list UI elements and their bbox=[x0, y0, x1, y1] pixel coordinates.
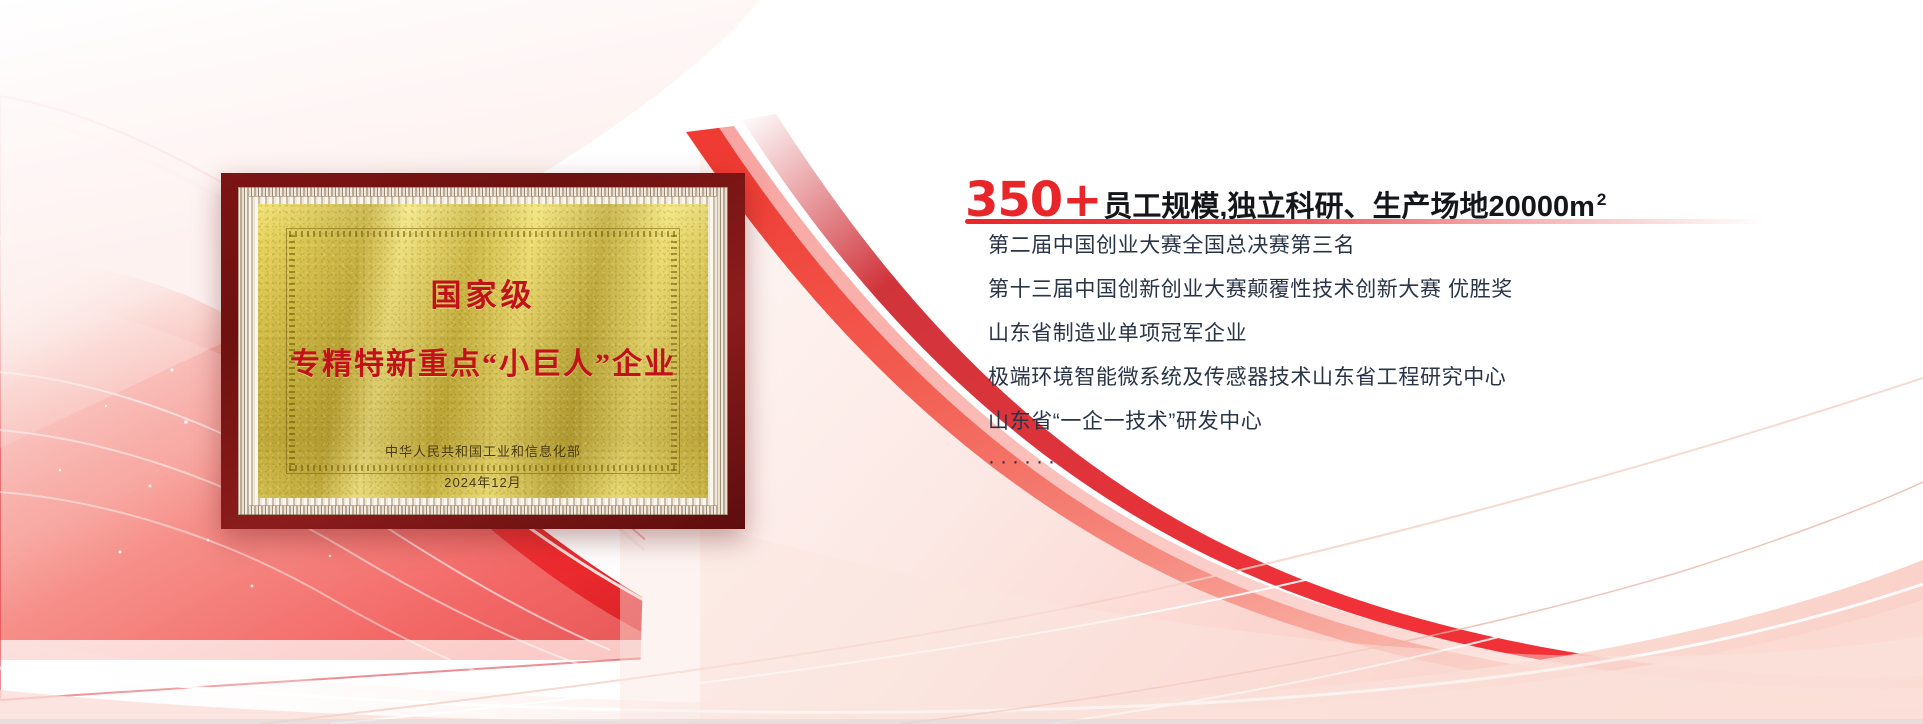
plaque-ornate-border-inner: 国家级 专精特新重点“小巨人”企业 中华人民共和国工业和信息化部 2024年12… bbox=[248, 196, 718, 506]
award-plaque: 国家级 专精特新重点“小巨人”企业 中华人民共和国工业和信息化部 2024年12… bbox=[221, 173, 745, 529]
list-item: 第十三届中国创新创业大赛颠覆性技术创新大赛 优胜奖 bbox=[988, 268, 1848, 312]
plaque-issuer: 中华人民共和国工业和信息化部 bbox=[385, 441, 581, 460]
list-item: 山东省制造业单项冠军企业 bbox=[988, 312, 1848, 356]
headline-superscript: 2 bbox=[1597, 191, 1606, 208]
plaque-title-line1: 国家级 bbox=[431, 270, 536, 315]
list-item: 极端环境智能微系统及传感器技术山东省工程研究中心 bbox=[988, 356, 1848, 400]
list-item: 第二届中国创业大赛全国总决赛第三名 bbox=[988, 224, 1848, 268]
plaque-outer-frame: 国家级 专精特新重点“小巨人”企业 中华人民共和国工业和信息化部 2024年12… bbox=[221, 173, 745, 529]
plaque-date: 2024年12月 bbox=[444, 472, 521, 491]
list-ellipsis: ······ bbox=[988, 444, 1848, 474]
plaque-gold-plate: 国家级 专精特新重点“小巨人”企业 中华人民共和国工业和信息化部 2024年12… bbox=[258, 204, 708, 498]
headline: 350+ 员工规模,独立科研、生产场地20000m 2 bbox=[965, 176, 1606, 224]
plaque-ornate-border-outer: 国家级 专精特新重点“小巨人”企业 中华人民共和国工业和信息化部 2024年12… bbox=[238, 187, 728, 515]
headline-text: 员工规模,独立科研、生产场地20000m bbox=[1103, 193, 1595, 222]
plaque-title-line2: 专精特新重点“小巨人”企业 bbox=[290, 339, 676, 383]
achievements-list: 第二届中国创业大赛全国总决赛第三名 第十三届中国创新创业大赛颠覆性技术创新大赛 … bbox=[988, 224, 1848, 474]
headline-number: 350+ bbox=[965, 176, 1101, 224]
list-item: 山东省“一企一技术”研发中心 bbox=[988, 400, 1848, 444]
banner-stage: 国家级 专精特新重点“小巨人”企业 中华人民共和国工业和信息化部 2024年12… bbox=[0, 0, 1923, 724]
plaque-inscription: 国家级 专精特新重点“小巨人”企业 中华人民共和国工业和信息化部 2024年12… bbox=[258, 204, 708, 498]
plaque-reflection bbox=[221, 533, 745, 703]
